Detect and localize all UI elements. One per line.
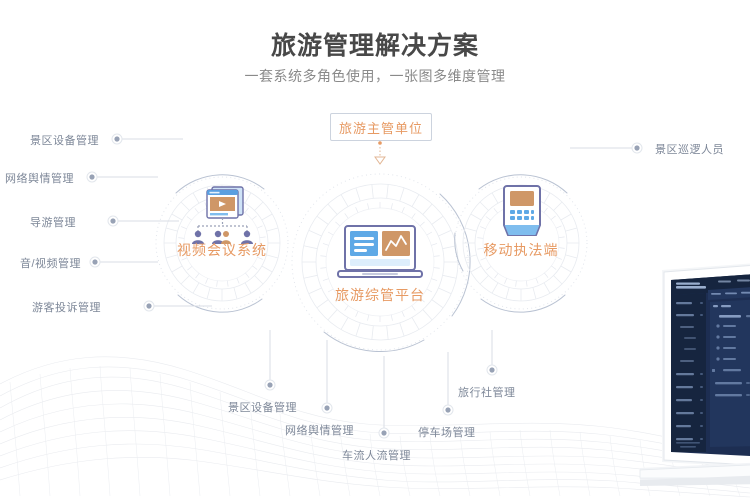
connector-dot (87, 172, 97, 182)
spoke-label-left-4[interactable]: 音/视频管理 (20, 255, 81, 271)
spoke-label-left-2[interactable]: 网络舆情管理 (5, 170, 74, 186)
connector-dot (632, 143, 642, 153)
spoke-label-bottom-3[interactable]: 车流人流管理 (342, 447, 411, 463)
spoke-label-bottom-1[interactable]: 景区设备管理 (228, 399, 297, 415)
connector-dot (265, 380, 275, 390)
node-label-video-conference: 视频会议系统 (142, 240, 302, 260)
connector-dot (144, 301, 154, 311)
connector-dot (487, 365, 497, 375)
infographic-canvas: 旅游管理解决方案 一套系统多角色使用，一张图多维度管理 旅游主管单位 (0, 0, 750, 498)
spoke-label-left-1[interactable]: 景区设备管理 (30, 132, 99, 148)
spoke-label-left-5[interactable]: 游客投诉管理 (32, 299, 101, 315)
connector-dot (112, 134, 122, 144)
spoke-label-left-3[interactable]: 导游管理 (30, 214, 76, 230)
laptop-dashboard-icon (336, 224, 424, 286)
tourism-dashboard-laptop (640, 256, 750, 498)
node-label-mobile-enforcement: 移动执法端 (441, 240, 601, 260)
handheld-device-icon (500, 183, 544, 243)
connector-dot (108, 216, 118, 226)
connector-dot (90, 257, 100, 267)
connector-dot (379, 428, 389, 438)
spoke-label-right-1[interactable]: 景区巡逻人员 (655, 141, 724, 157)
connector-dot (322, 403, 332, 413)
spoke-label-bottom-2[interactable]: 网络舆情管理 (285, 422, 354, 438)
connector-dot (443, 405, 453, 415)
video-window-icon (186, 184, 260, 246)
node-label-tourism-platform: 旅游综管平台 (300, 285, 460, 305)
spoke-label-bottom-4[interactable]: 停车场管理 (418, 424, 476, 440)
spoke-label-bottom-5[interactable]: 旅行社管理 (458, 384, 516, 400)
